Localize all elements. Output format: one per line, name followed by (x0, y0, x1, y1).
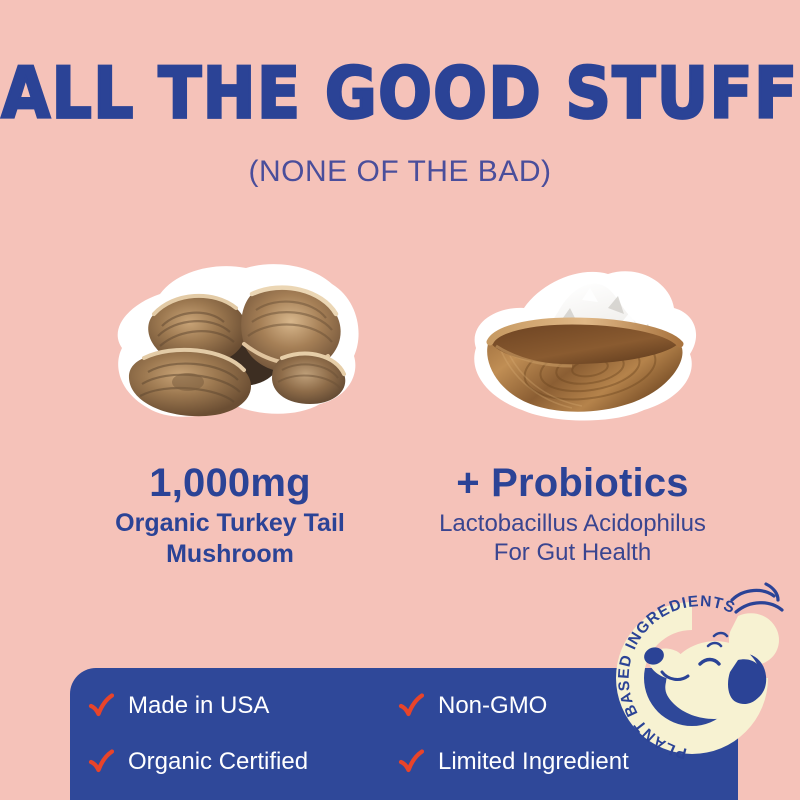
plant-based-ingredients-badge: PLANT BASED INGREDIENTS (588, 578, 796, 768)
infographic-canvas: ALL THE GOOD STUFF (NONE OF THE BAD) (0, 0, 800, 800)
feature-item-made-in-usa: Made in USA (88, 692, 398, 720)
product-claim-right: + Probiotics Lactobacillus Acidophilus F… (400, 462, 745, 568)
claim-description-left-line1: Organic Turkey Tail (60, 508, 400, 539)
feature-label: Made in USA (128, 692, 269, 720)
claim-amount-left: 1,000mg (60, 462, 400, 504)
wag-flourish-icon (732, 584, 782, 612)
feature-label: Organic Certified (128, 748, 308, 776)
claim-description-right-line1: Lactobacillus Acidophilus (400, 509, 745, 538)
checkmark-icon (398, 693, 424, 719)
claim-amount-right: + Probiotics (400, 462, 745, 504)
checkmark-icon (88, 693, 114, 719)
product-claim-left: 1,000mg Organic Turkey Tail Mushroom (60, 462, 400, 569)
wooden-bowl-of-powder-photo (432, 252, 708, 432)
checkmark-icon (398, 749, 424, 775)
checkmark-icon (88, 749, 114, 775)
claim-description-right-line2: For Gut Health (400, 538, 745, 567)
claim-description-left-line2: Mushroom (60, 539, 400, 570)
page-subtitle: (NONE OF THE BAD) (0, 155, 800, 189)
feature-label: Non-GMO (438, 692, 547, 720)
page-title: ALL THE GOOD STUFF (0, 58, 800, 129)
turkey-tail-mushrooms-photo (96, 252, 372, 432)
feature-item-organic-certified: Organic Certified (88, 748, 398, 776)
